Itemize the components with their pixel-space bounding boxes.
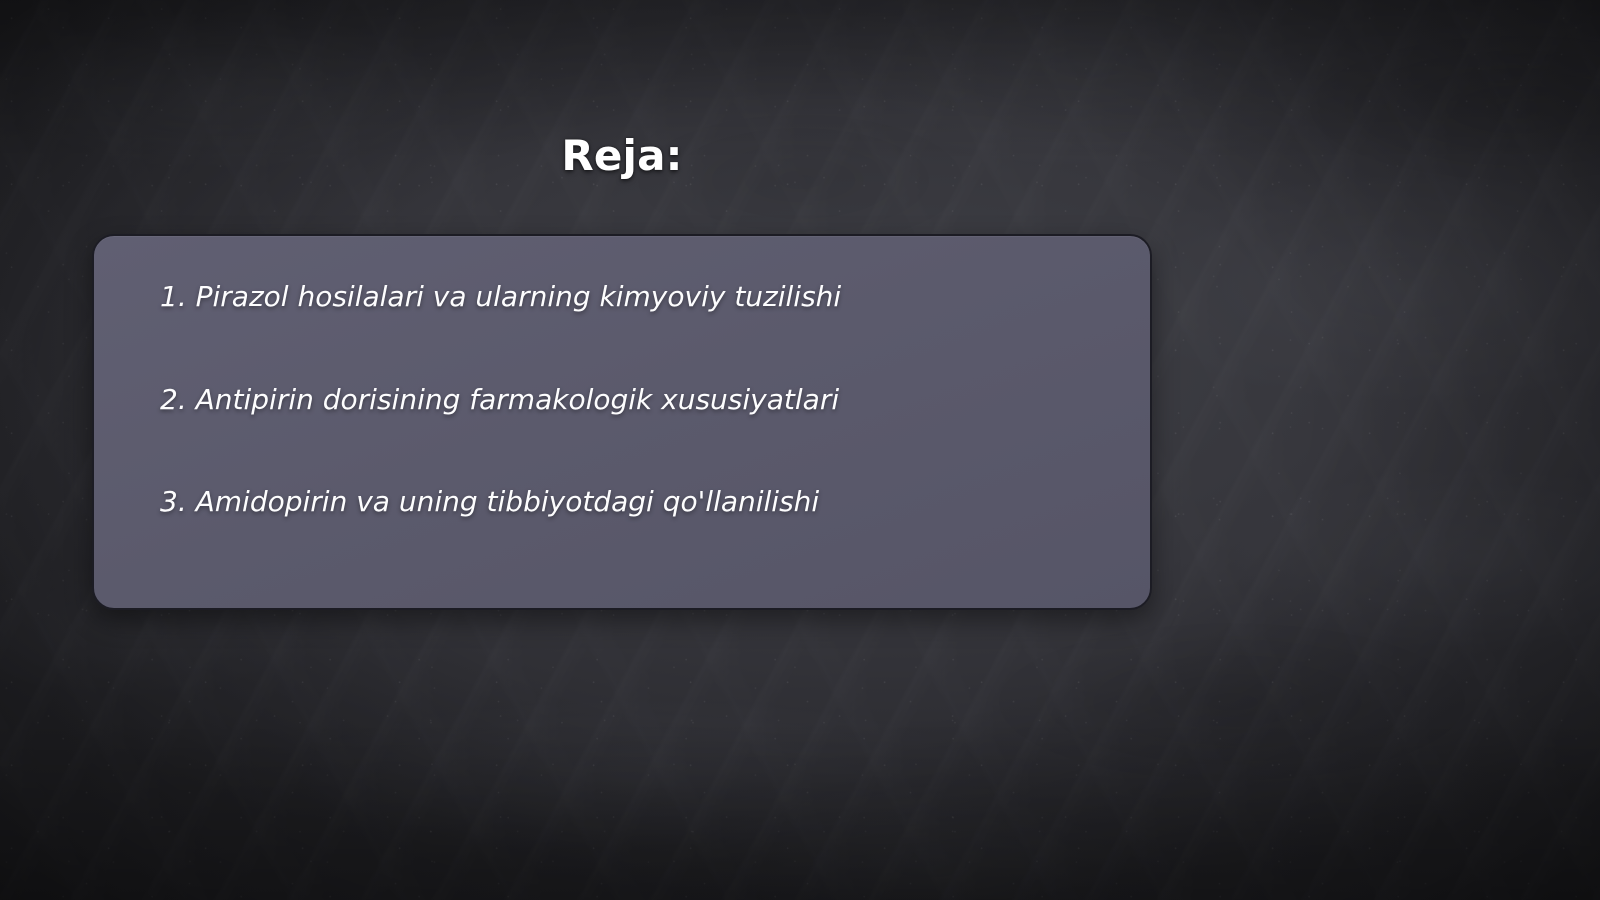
list-item: 1. Pirazol hosilalari va ularning kimyov… — [160, 280, 1090, 314]
agenda-card: 1. Pirazol hosilalari va ularning kimyov… — [92, 234, 1152, 610]
list-item: 2. Antipirin dorisining farmakologik xus… — [160, 383, 1090, 417]
page-title: Reja: — [92, 131, 1152, 180]
agenda-list: 1. Pirazol hosilalari va ularning kimyov… — [94, 236, 1150, 608]
presentation-slide: Reja: 1. Pirazol hosilalari va ularning … — [0, 0, 1600, 900]
list-item: 3. Amidopirin va uning tibbiyotdagi qo'l… — [160, 485, 1090, 519]
slide-content: Reja: 1. Pirazol hosilalari va ularning … — [0, 0, 1600, 900]
